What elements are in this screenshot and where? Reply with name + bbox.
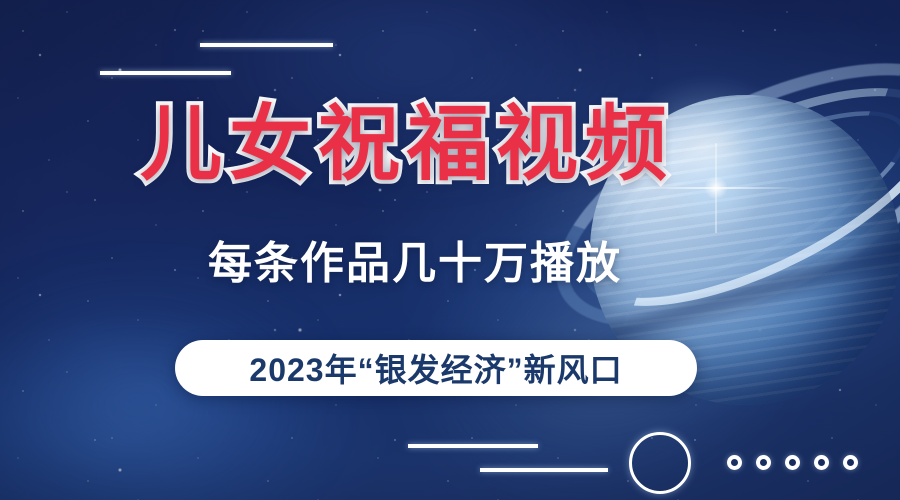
decor-line-top-lower: [100, 71, 231, 75]
decor-dot-5: [843, 455, 858, 470]
decor-line-bottom-lower: [480, 468, 608, 472]
decor-dot-4: [814, 455, 829, 470]
decor-dot-1: [727, 455, 742, 470]
decor-circle-outline: [629, 432, 691, 494]
page-title: 儿女祝福视频: [140, 104, 674, 186]
highlight-banner-text: 2023年“银发经济”新风口: [249, 345, 622, 391]
decor-dot-2: [756, 455, 771, 470]
decor-line-top-upper: [200, 43, 333, 47]
decor-line-bottom-upper: [408, 444, 538, 448]
promo-poster: 儿女祝福视频 每条作品几十万播放 2023年“银发经济”新风口: [0, 0, 900, 500]
decor-dot-3: [785, 455, 800, 470]
decor-dot-row: [727, 455, 858, 470]
highlight-banner: 2023年“银发经济”新风口: [175, 340, 697, 396]
page-subtitle: 每条作品几十万播放: [208, 242, 622, 286]
